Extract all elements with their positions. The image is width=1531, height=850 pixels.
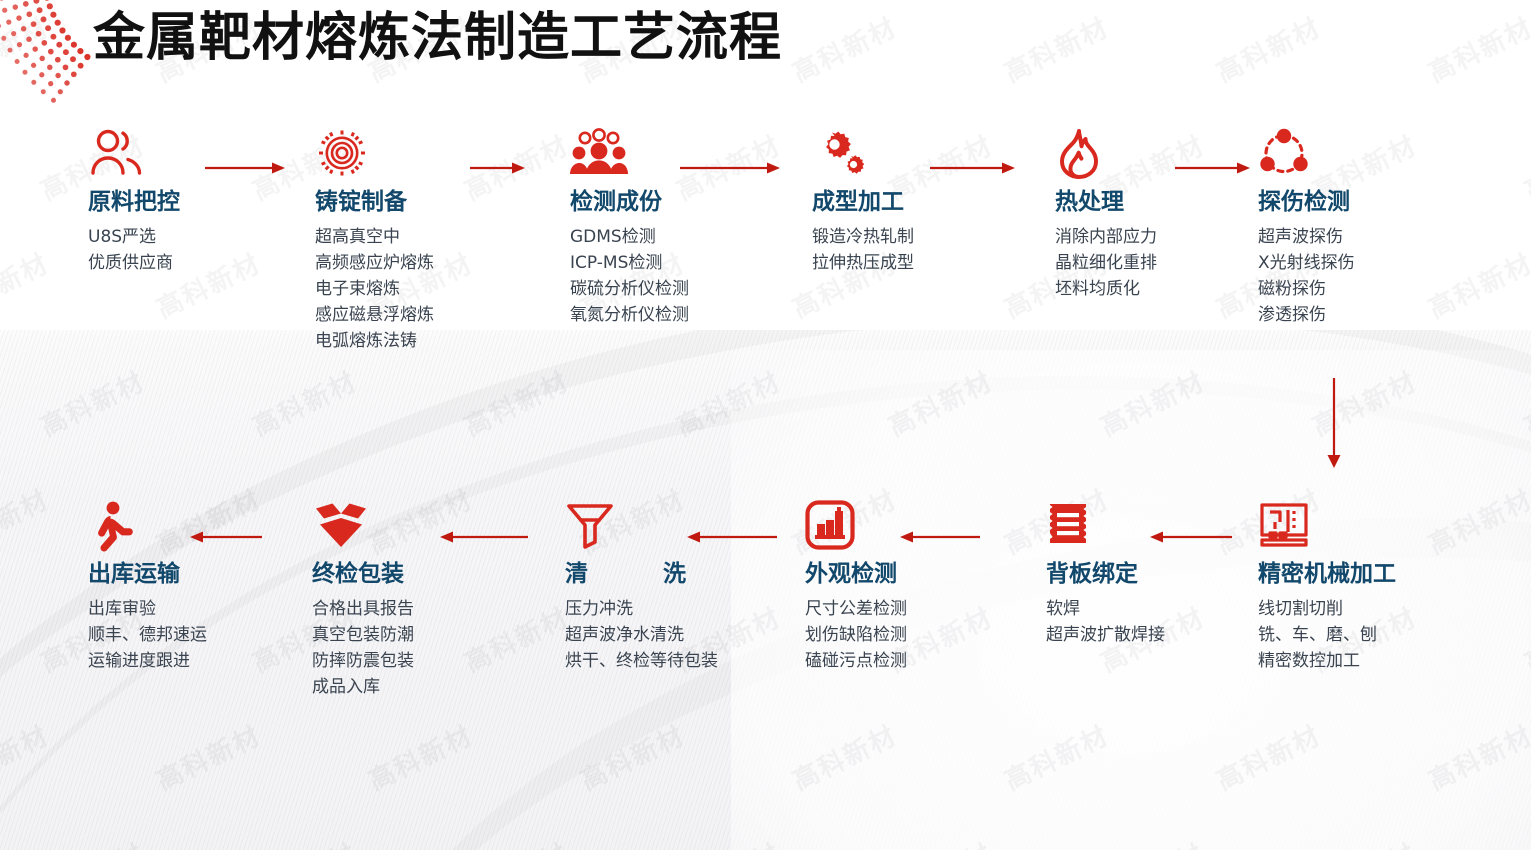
step-detail-item: 电弧熔炼法铸 [315,329,530,355]
arrow-left-4 [900,529,980,545]
arrow-right-4 [930,160,1015,176]
step-title: 探伤检测 [1258,190,1473,215]
step-detail-list: 线切割切削铣、车、磨、刨精密数控加工 [1258,597,1488,674]
step-detail-item: 消除内部应力 [1055,225,1270,251]
step-title: 成型加工 [812,190,1027,215]
process-step-precision-machining[interactable]: 精密机械加工线切割切削铣、车、磨、刨精密数控加工 [1258,500,1488,675]
process-step-flaw-detection[interactable]: 探伤检测超声波探伤X光射线探伤磁粉探伤渗透探伤 [1258,128,1473,329]
step-detail-item: 压力冲洗 [565,597,760,623]
arrow-left-1 [190,529,262,545]
step-detail-item: 拉伸热压成型 [812,251,1027,277]
process-step-outbound-transport[interactable]: 出库运输出库审验顺丰、德邦速运运输进度跟进 [88,500,303,675]
step-detail-item: 磁粉探伤 [1258,277,1473,303]
step-detail-list: 压力冲洗超声波净水清洗烘干、终检等待包装 [565,597,760,674]
step-detail-item: ICP-MS检测 [570,251,785,277]
step-detail-list: U8S严选优质供应商 [88,225,303,277]
step-detail-item: 真空包装防潮 [312,623,527,649]
step-detail-item: 铣、车、磨、刨 [1258,623,1488,649]
step-detail-item: 出库审验 [88,597,303,623]
arrow-right-3 [680,160,780,176]
arrow-right-1 [205,160,285,176]
step-detail-list: 尺寸公差检测划伤缺陷检测磕碰污点检测 [805,597,1020,674]
step-title: 外观检测 [805,562,1020,587]
process-step-heat-treatment[interactable]: 热处理消除内部应力晶粒细化重排坯料均质化 [1055,128,1270,303]
step-detail-item: 防摔防震包装 [312,649,527,675]
receipt-icon [1046,500,1261,554]
arrow-left-2 [440,529,528,545]
step-detail-item: 尺寸公差检测 [805,597,1020,623]
step-detail-item: 成品入库 [312,675,527,701]
arrow-right-5 [1175,160,1250,176]
arrow-left-3 [687,529,777,545]
process-step-appearance-inspection[interactable]: 外观检测尺寸公差检测划伤缺陷检测磕碰污点检测 [805,500,1020,675]
step-detail-list: 出库审验顺丰、德邦速运运输进度跟进 [88,597,303,674]
cnc-machine-icon [1258,500,1488,554]
step-title: 背板绑定 [1046,562,1261,587]
step-title: 原料把控 [88,190,303,215]
step-detail-item: GDMS检测 [570,225,785,251]
step-detail-item: 顺丰、德邦速运 [88,623,303,649]
step-detail-item: 高频感应炉熔炼 [315,251,530,277]
step-detail-list: 合格出具报告真空包装防潮防摔防震包装成品入库 [312,597,527,700]
step-detail-item: 运输进度跟进 [88,649,303,675]
step-detail-item: 晶粒细化重排 [1055,251,1270,277]
step-detail-item: 烘干、终检等待包装 [565,649,760,675]
arrow-right-2 [470,160,525,176]
step-detail-item: X光射线探伤 [1258,251,1473,277]
step-detail-list: 软焊超声波扩散焊接 [1046,597,1261,649]
step-detail-list: 锻造冷热轧制拉伸热压成型 [812,225,1027,277]
step-detail-list: 超高真空中高频感应炉熔炼电子束熔炼感应磁悬浮熔炼电弧熔炼法铸 [315,225,530,354]
open-box-icon [312,500,527,554]
step-detail-item: 合格出具报告 [312,597,527,623]
funnel-icon [565,500,760,554]
step-detail-item: 优质供应商 [88,251,303,277]
process-step-raw-material-control[interactable]: 原料把控U8S严选优质供应商 [88,128,303,277]
step-detail-item: 超声波扩散焊接 [1046,623,1261,649]
step-detail-item: 感应磁悬浮熔炼 [315,303,530,329]
step-title: 出库运输 [88,562,303,587]
process-step-composition-testing[interactable]: 检测成份GDMS检测ICP-MS检测碳硫分析仪检测氧氮分析仪检测 [570,128,785,329]
process-flow-diagram: 原料把控U8S严选优质供应商 铸锭制备超高真空中高频感应炉熔炼电子束熔炼感应磁悬… [0,0,1531,850]
step-detail-item: 氧氮分析仪检测 [570,303,785,329]
process-step-backplate-bonding[interactable]: 背板绑定软焊超声波扩散焊接 [1046,500,1261,649]
step-title: 铸锭制备 [315,190,530,215]
step-title: 热处理 [1055,190,1270,215]
step-title: 检测成份 [570,190,785,215]
walking-person-icon [88,500,303,554]
step-detail-item: 超声波净水清洗 [565,623,760,649]
step-title: 终检包装 [312,562,527,587]
step-detail-item: 超声波探伤 [1258,225,1473,251]
process-step-cleaning[interactable]: 清 洗压力冲洗超声波净水清洗烘干、终检等待包装 [565,500,760,675]
step-title: 精密机械加工 [1258,562,1488,587]
step-detail-item: 磕碰污点检测 [805,649,1020,675]
step-detail-list: 消除内部应力晶粒细化重排坯料均质化 [1055,225,1270,302]
step-detail-list: GDMS检测ICP-MS检测碳硫分析仪检测氧氮分析仪检测 [570,225,785,328]
step-detail-item: 软焊 [1046,597,1261,623]
step-detail-item: 碳硫分析仪检测 [570,277,785,303]
step-detail-item: 超高真空中 [315,225,530,251]
step-detail-item: 电子束熔炼 [315,277,530,303]
step-detail-item: 渗透探伤 [1258,303,1473,329]
step-detail-item: 划伤缺陷检测 [805,623,1020,649]
step-title: 清 洗 [565,562,760,587]
process-step-forming-processing[interactable]: 成型加工锻造冷热轧制拉伸热压成型 [812,128,1027,277]
arrow-left-5 [1150,529,1232,545]
step-detail-item: U8S严选 [88,225,303,251]
step-detail-item: 坯料均质化 [1055,277,1270,303]
step-detail-list: 超声波探伤X光射线探伤磁粉探伤渗透探伤 [1258,225,1473,328]
arrow-down [1325,378,1343,470]
step-detail-item: 锻造冷热轧制 [812,225,1027,251]
step-detail-item: 线切割切削 [1258,597,1488,623]
factory-badge-icon [805,500,1020,554]
three-dots-triangle-icon [1258,128,1473,182]
step-detail-item: 精密数控加工 [1258,649,1488,675]
